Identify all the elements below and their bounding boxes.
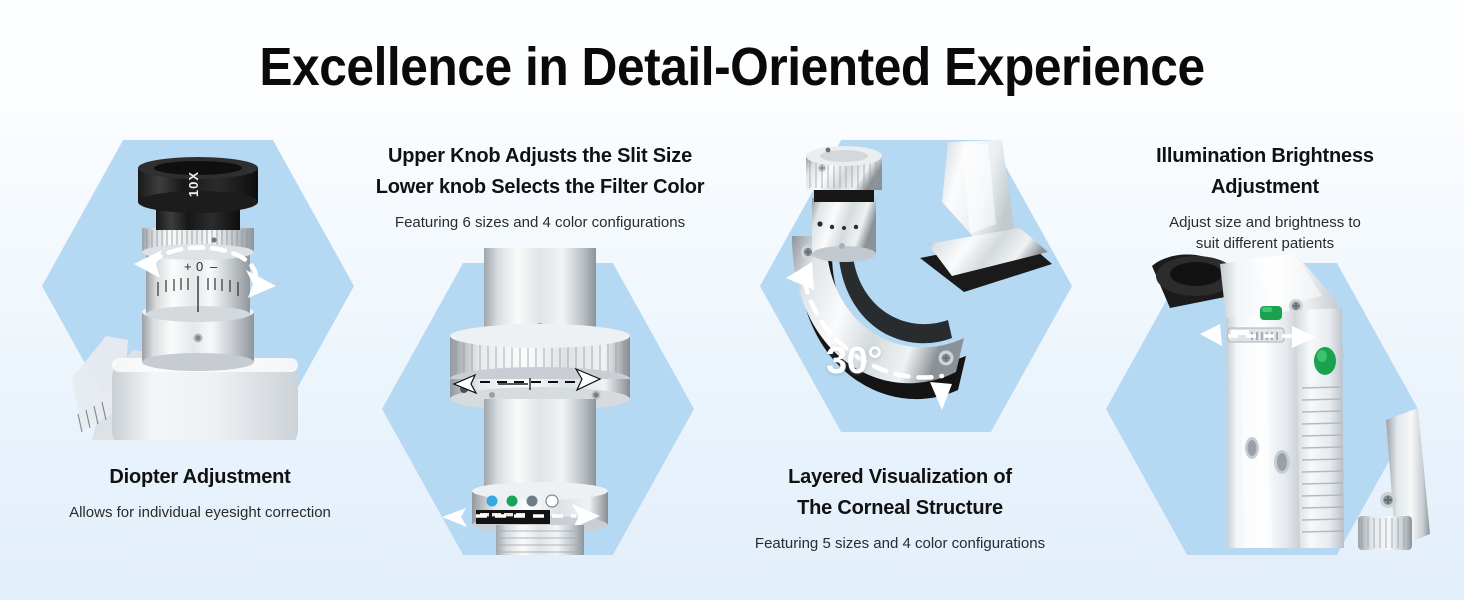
panel-caption-corneal-visualization: Layered Visualization of The Corneal Str… [700,462,1100,554]
svg-text:10X: 10X [186,171,201,197]
svg-text:0: 0 [196,259,203,274]
product-image-swivel-arm-base [752,132,1082,432]
panel-subtext-line-1: Featuring 6 sizes and 4 color configurat… [350,212,730,233]
panel-subtext-line-1: Allows for individual eyesight correctio… [20,502,380,523]
panel-subtext-line-1: Featuring 5 sizes and 4 color configurat… [700,533,1100,554]
panel-caption-diopter-adjustment: Diopter Adjustment Allows for individual… [20,462,380,523]
panel-heading-line-2: Lower knob Selects the Filter Color [350,172,730,203]
product-image-eyepiece-diopter-ring: + 0 – [20,140,380,440]
panel-heading-line-1: Upper Knob Adjusts the Slit Size [350,141,730,172]
panel-heading-line-2: The Corneal Structure [700,493,1100,524]
page-title: Excellence in Detail-Oriented Experience [59,36,1406,98]
poster-canvas: Excellence in Detail-Oriented Experience [0,0,1464,600]
panel-caption-illumination-brightness: Illumination Brightness Adjustment Adjus… [1090,141,1440,254]
panel-heading-line-2: Adjustment [1090,172,1440,203]
svg-text:+: + [184,259,192,274]
panel-heading-line-1: Layered Visualization of [700,462,1100,493]
product-image-handle-brightness-slider [1100,248,1440,568]
svg-text:–: – [210,259,218,274]
panel-heading-line-1: Diopter Adjustment [20,462,380,493]
panel-caption-slit-and-filter: Upper Knob Adjusts the Slit Size Lower k… [350,141,730,233]
angle-label-30-degrees: 30° [826,340,882,383]
panel-heading-line-1: Illumination Brightness [1090,141,1440,172]
product-image-illumination-column [380,248,700,560]
panel-subtext-line-1: Adjust size and brightness to [1090,212,1440,233]
